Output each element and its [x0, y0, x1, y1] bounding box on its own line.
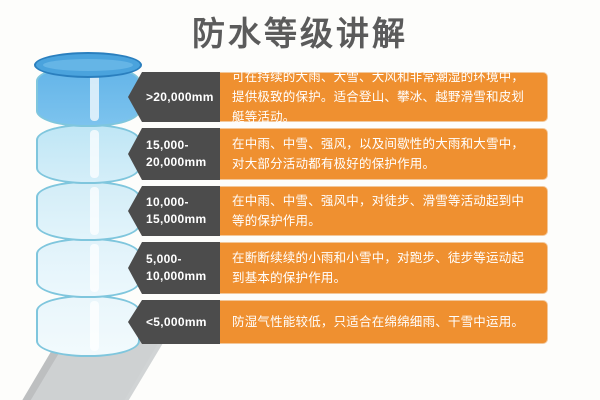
- rating-level-line1: 10,000-: [146, 194, 220, 211]
- rating-level-tag: >20,000mm: [128, 72, 220, 122]
- rating-level-line1: 5,000-: [146, 251, 220, 268]
- rating-level-tag: 5,000- 10,000mm: [128, 242, 220, 294]
- rating-row: 5,000- 10,000mm 在断断续续的小雨和小雪中，对跑步、徒步等运动起到…: [128, 242, 548, 294]
- column-segment-5: [36, 295, 140, 357]
- rating-level-tag: <5,000mm: [128, 300, 220, 344]
- highlight-stripe: [90, 301, 99, 351]
- water-surface-inner: [43, 59, 133, 71]
- rating-level-line1: >20,000mm: [146, 89, 220, 106]
- rating-row: <5,000mm 防湿气性能较低，只适合在绵绵细雨、干雪中运用。: [128, 300, 548, 344]
- water-surface-icon: [34, 52, 142, 78]
- rating-level-line2: 10,000mm: [146, 268, 220, 285]
- waterproof-rating-infographic: 防水等级讲解 静水压测试水柱 >20,000mm 可在持续的大雨、大雪、大风和非…: [0, 0, 600, 400]
- rating-description: 在中雨、中雪、强风，以及间歇性的大雨和大雪中，对大部分活动都有极好的保护作用。: [220, 128, 548, 180]
- page-title: 防水等级讲解: [0, 14, 600, 54]
- rating-level-tag: 10,000- 15,000mm: [128, 186, 220, 236]
- rating-description: 在断断续续的小雨和小雪中，对跑步、徒步等运动起到基本的保护作用。: [220, 242, 548, 294]
- column-segment-4: [36, 238, 140, 298]
- rating-level-line2: 15,000mm: [146, 211, 220, 228]
- rating-level-line1: 15,000-: [146, 137, 220, 154]
- rating-row: >20,000mm 可在持续的大雨、大雪、大风和非常潮湿的环境中，提供极致的保护…: [128, 72, 548, 122]
- rating-row: 10,000- 15,000mm 在中雨、中雪、强风中，对徒步、滑雪等活动起到中…: [128, 186, 548, 236]
- rating-description: 防湿气性能较低，只适合在绵绵细雨、干雪中运用。: [220, 300, 548, 344]
- rating-description: 可在持续的大雨、大雪、大风和非常潮湿的环境中，提供极致的保护。适合登山、攀冰、越…: [220, 72, 548, 122]
- rating-description: 在中雨、中雪、强风中，对徒步、滑雪等活动起到中等的保护作用。: [220, 186, 548, 236]
- column-segment-2: [36, 124, 140, 184]
- highlight-stripe: [90, 187, 99, 235]
- highlight-stripe: [90, 244, 99, 292]
- rating-level-tag: 15,000- 20,000mm: [128, 128, 220, 180]
- highlight-stripe: [90, 130, 99, 178]
- highlight-stripe: [90, 71, 99, 121]
- rating-row: 15,000- 20,000mm 在中雨、中雪、强风，以及间歇性的大雨和大雪中，…: [128, 128, 548, 180]
- column-segment-3: [36, 181, 140, 241]
- rating-level-line2: 20,000mm: [146, 154, 220, 171]
- rating-level-line1: <5,000mm: [146, 314, 220, 331]
